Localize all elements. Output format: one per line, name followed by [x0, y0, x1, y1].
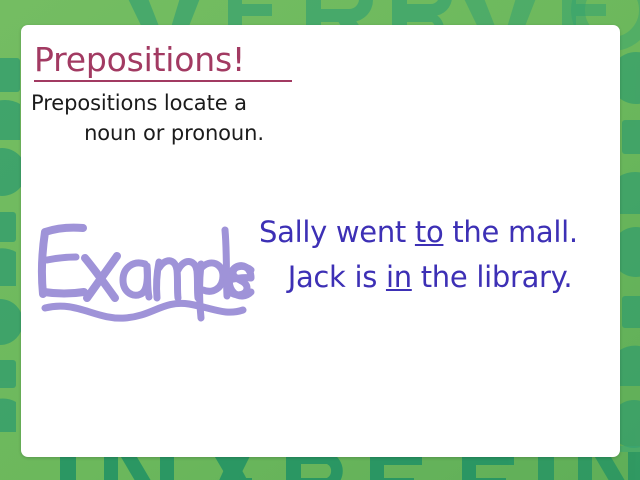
definition-line-2: noun or pronoun.: [29, 119, 319, 149]
example-sentences: Sally went to the mall. Jack is in the l…: [257, 210, 617, 300]
title-block: Prepositions!: [34, 43, 334, 82]
slide-content-card: Prepositions! Prepositions locate a noun…: [21, 25, 620, 457]
sentence-1-before: Sally went: [259, 215, 415, 249]
slide: Prepositions! Prepositions locate a noun…: [0, 0, 640, 480]
title-underline-rule: [34, 80, 292, 82]
examples-handwritten-label: [29, 208, 255, 328]
sentence-1-after: the mall.: [443, 215, 577, 249]
page-title: Prepositions!: [34, 43, 334, 78]
sentence-2-preposition: in: [386, 260, 412, 294]
definition-text: Prepositions locate a noun or pronoun.: [29, 89, 319, 149]
definition-line-1: Prepositions locate a: [29, 89, 319, 119]
sentence-2-before: Jack is: [288, 260, 386, 294]
example-sentence-2: Jack is in the library.: [257, 255, 617, 300]
sentence-2-after: the library.: [412, 260, 573, 294]
example-sentence-1: Sally went to the mall.: [257, 210, 617, 255]
sentence-1-preposition: to: [415, 215, 444, 249]
